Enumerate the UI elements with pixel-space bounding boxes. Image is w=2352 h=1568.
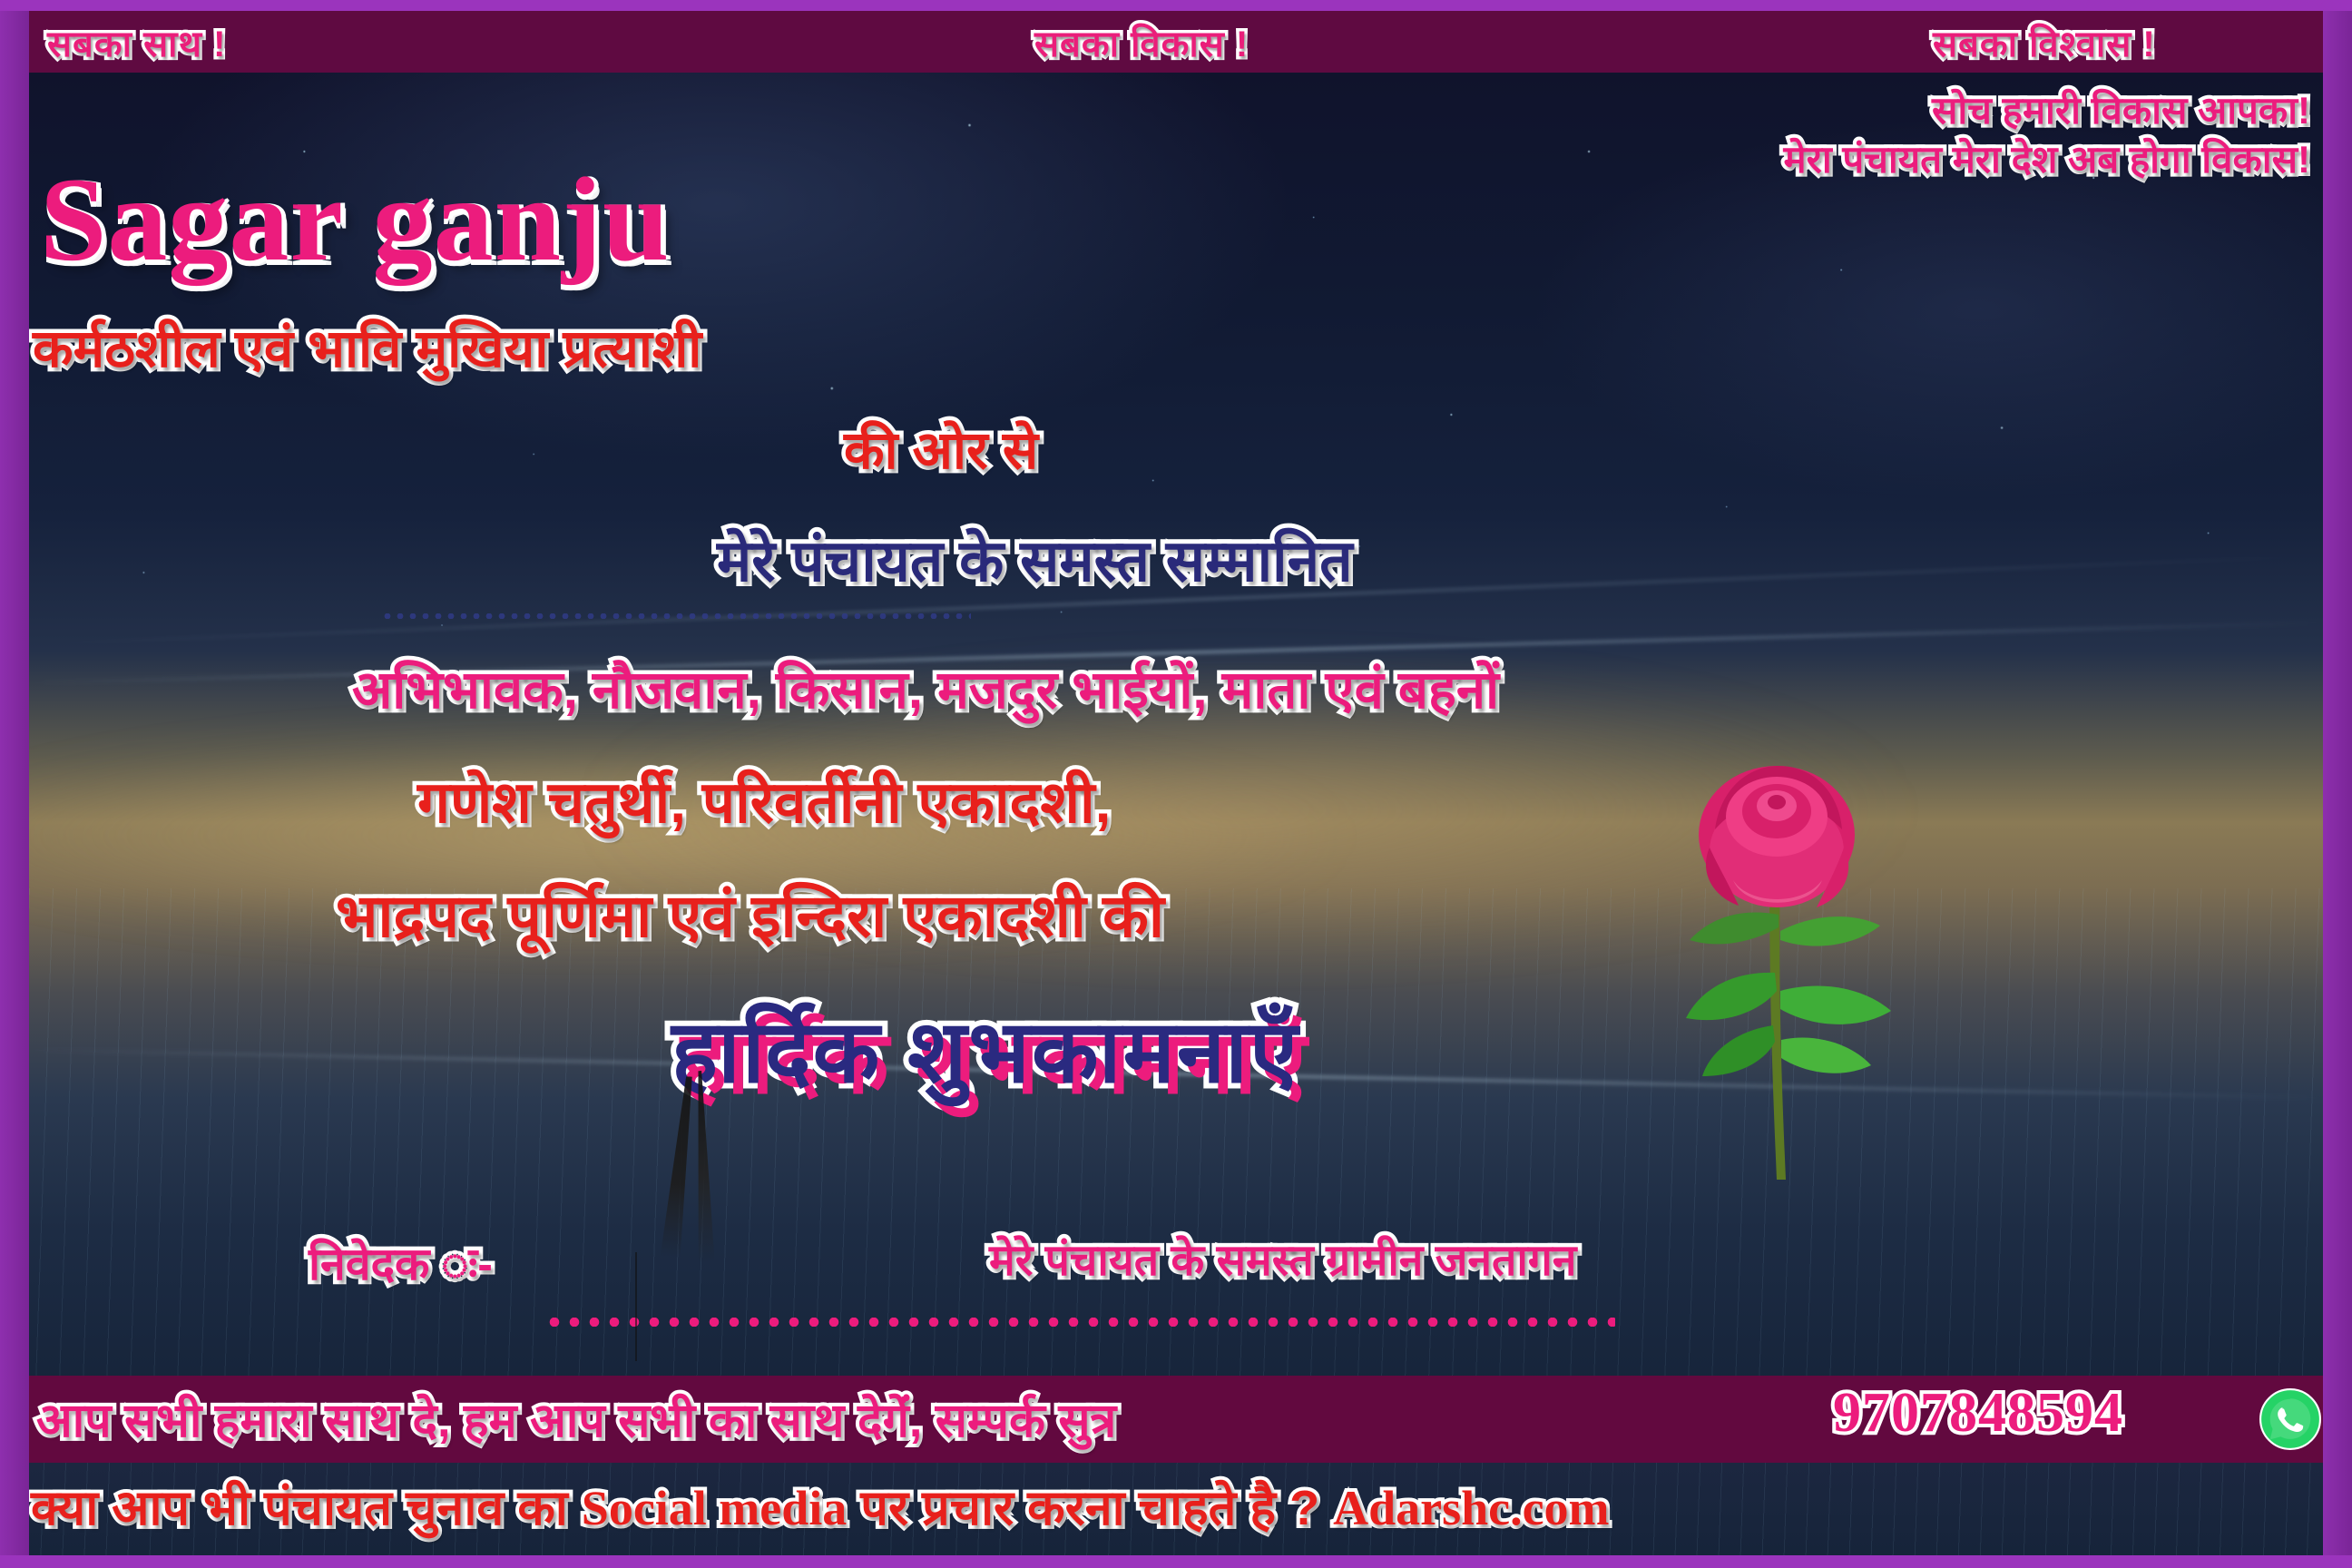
whatsapp-icon[interactable] bbox=[2259, 1388, 2321, 1450]
slogan-sabka-saath: सबका साथ ! bbox=[47, 17, 226, 67]
top-slogan-bar: सबका साथ ! सबका विकास ! सबका विश्वास ! bbox=[0, 11, 2352, 73]
frame-border-top bbox=[0, 0, 2352, 11]
thin-line-decor bbox=[635, 1252, 637, 1361]
candidate-name: Sagar ganju bbox=[40, 160, 670, 279]
promo-bar: क्या आप भी पंचायत चुनाव का Social media … bbox=[0, 1463, 2352, 1555]
rose-icon bbox=[1633, 753, 1924, 1189]
respect-line: मेरे पंचायत के समस्त सम्मानित bbox=[717, 532, 1353, 590]
slogan-sabka-vikas: सबका विकास ! bbox=[1034, 17, 1249, 67]
candidate-tagline: कर्मठशील एवं भावि मुखिया प्रत्याशी bbox=[33, 323, 701, 376]
contact-phone-number[interactable]: 9707848594 bbox=[1833, 1381, 2123, 1445]
header-right-line-1: सोच हमारी विकास आपका! bbox=[1784, 89, 2310, 132]
dotted-divider bbox=[381, 613, 971, 619]
promo-suffix: पर प्रचार करना चाहते है ? bbox=[847, 1481, 1333, 1535]
sender-label: निवेदक ः- bbox=[309, 1241, 493, 1287]
sender-value: मेरे पंचायत के समस्त ग्रामीन जनतागन bbox=[989, 1240, 1576, 1283]
frame-border-left bbox=[0, 0, 29, 1568]
frame-border-bottom bbox=[0, 1555, 2352, 1568]
promo-message: क्या आप भी पंचायत चुनाव का Social media … bbox=[31, 1472, 1610, 1539]
dotted-divider bbox=[544, 1318, 1615, 1327]
support-message: आप सभी हमारा साथ दे, हम आप सभी का साथ दे… bbox=[36, 1387, 1116, 1451]
festival-line-1: गणेश चतुर्थी, परिवर्तीनी एकादशी, bbox=[417, 773, 1111, 831]
promo-social-media: Social media bbox=[582, 1481, 848, 1535]
contact-bar: आप सभी हमारा साथ दे, हम आप सभी का साथ दे… bbox=[0, 1376, 2352, 1463]
frame-border-right bbox=[2323, 0, 2352, 1568]
election-greeting-poster: Sagar ganju कर्मठशील एवं भावि मुखिया प्र… bbox=[0, 0, 2352, 1568]
promo-prefix: क्या आप भी पंचायत चुनाव का bbox=[31, 1481, 582, 1535]
header-right-line-2: मेरा पंचायत मेरा देश अब होगा विकास! bbox=[1784, 138, 2310, 181]
from-label: की ओर से bbox=[844, 425, 1038, 477]
poster-content: Sagar ganju कर्मठशील एवं भावि मुखिया प्र… bbox=[0, 0, 2352, 1568]
promo-website[interactable]: Adarshc.com bbox=[1333, 1481, 1609, 1535]
greeting-headline: हार्दिक शुभकामनाएँ bbox=[671, 1009, 1299, 1096]
brush-stroke-decor bbox=[661, 1076, 700, 1258]
audience-line: अभिभावक, नौजवान, किसान, मजदुर भाईयों, मा… bbox=[352, 664, 1499, 717]
slogan-sabka-vishwas: सबका विश्वास ! bbox=[1933, 17, 2156, 67]
festival-line-2: भाद्रपद पूर्णिमा एवं इन्दिरा एकादशी की bbox=[336, 886, 1164, 946]
header-right-block: सोच हमारी विकास आपका! मेरा पंचायत मेरा द… bbox=[1784, 89, 2310, 182]
